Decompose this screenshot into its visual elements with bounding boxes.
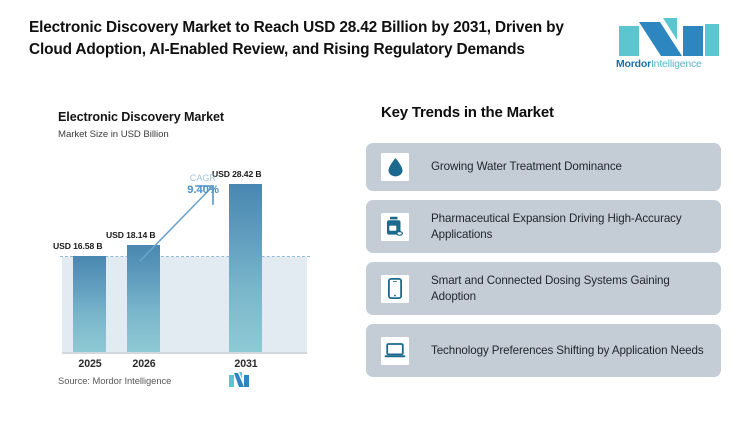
logo-mark-icon: [613, 18, 725, 56]
cagr-annotation: CAGR 9.40%: [170, 173, 236, 196]
bar-value-label-2025: USD 16.58 B: [53, 241, 103, 251]
trend-card-pharmaceutical-expansion[interactable]: Pharmaceutical Expansion Driving High-Ac…: [366, 200, 721, 253]
x-tick-2026: 2026: [114, 358, 174, 370]
water-drop-icon: [381, 153, 409, 181]
chart-subtitle: Market Size in USD Billion: [58, 129, 169, 140]
trend-card-smart-dosing-systems[interactable]: Smart and Connected Dosing Systems Gaini…: [366, 262, 721, 315]
source-logo-icon: [228, 372, 250, 387]
trend-label: Smart and Connected Dosing Systems Gaini…: [431, 273, 707, 304]
trends-heading: Key Trends in the Market: [381, 104, 554, 121]
trend-card-water-treatment[interactable]: Growing Water Treatment Dominance: [366, 143, 721, 191]
logo-wordmark: MordorIntelligence: [616, 58, 724, 71]
trend-label: Pharmaceutical Expansion Driving High-Ac…: [431, 211, 707, 242]
trend-label: Growing Water Treatment Dominance: [431, 159, 622, 175]
mordor-intelligence-logo: MordorIntelligence: [613, 18, 725, 74]
cagr-value: 9.40%: [170, 184, 236, 196]
laptop-icon: [381, 337, 409, 365]
smartphone-icon: [381, 275, 409, 303]
market-size-chart: Electronic Discovery Market Market Size …: [36, 100, 326, 400]
trend-card-technology-preferences[interactable]: Technology Preferences Shifting by Appli…: [366, 324, 721, 377]
chart-title: Electronic Discovery Market: [58, 110, 224, 124]
trend-list: Growing Water Treatment Dominance Pharma…: [366, 143, 721, 386]
bar-2025: [73, 256, 106, 352]
logo-wordmark-light: Intelligence: [651, 58, 702, 70]
chart-source-text: Source: Mordor Intelligence: [58, 375, 171, 386]
medicine-bottle-icon: [381, 213, 409, 241]
infographic-page: Electronic Discovery Market to Reach USD…: [0, 0, 750, 430]
page-title: Electronic Discovery Market to Reach USD…: [29, 17, 594, 60]
x-tick-2025: 2025: [60, 358, 120, 370]
cagr-label: CAGR: [170, 173, 236, 183]
x-tick-2031: 2031: [216, 358, 276, 370]
chart-plot-area: USD 16.58 B USD 18.14 B USD 28.42 B 2025…: [36, 155, 326, 353]
chart-baseline: [62, 352, 307, 354]
trend-label: Technology Preferences Shifting by Appli…: [431, 343, 704, 359]
logo-wordmark-bold: Mordor: [616, 58, 651, 70]
